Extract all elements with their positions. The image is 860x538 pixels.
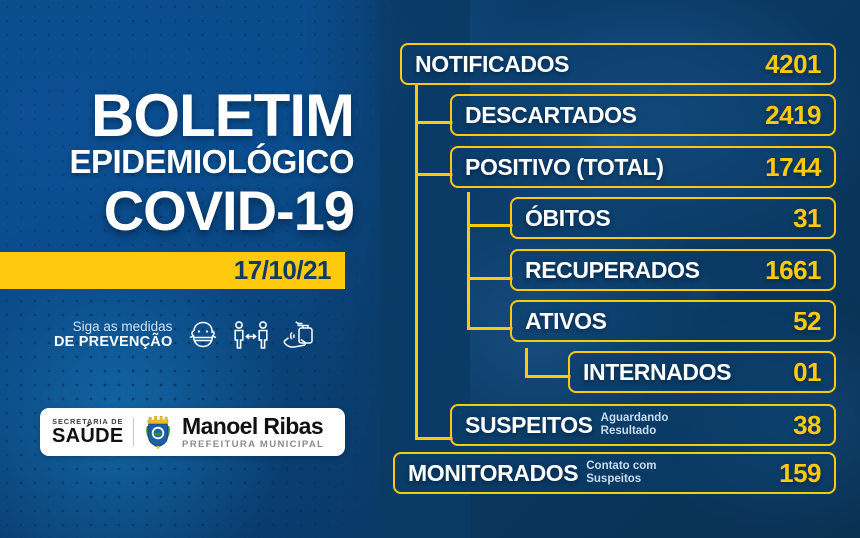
row-value: 1661 — [765, 255, 821, 286]
row-label: INTERNADOS — [583, 359, 731, 386]
row-positivo-total[interactable]: POSITIVO (TOTAL) 1744 — [450, 146, 836, 188]
statistics-tree: NOTIFICADOS 4201 DESCARTADOS 2419 POSITI… — [0, 0, 860, 538]
row-sublabel-line1: Contato com — [586, 460, 656, 472]
connector-branch-descartados — [415, 121, 453, 124]
connector-branch-ativos — [467, 327, 513, 330]
row-value: 2419 — [765, 100, 821, 131]
row-obitos[interactable]: ÓBITOS 31 — [510, 197, 836, 239]
connector-branch-suspeitos — [415, 437, 453, 440]
connector-branch-obitos — [467, 224, 513, 227]
connector-trunk-level2 — [467, 192, 470, 329]
row-label: RECUPERADOS — [525, 257, 700, 284]
connector-branch-internados — [525, 375, 571, 378]
row-sublabel: Contato com Suspeitos — [586, 460, 656, 486]
row-value: 159 — [779, 458, 821, 489]
row-recuperados[interactable]: RECUPERADOS 1661 — [510, 249, 836, 291]
connector-branch-positivo — [415, 173, 453, 176]
row-sublabel-line2: Suspeitos — [586, 473, 641, 485]
row-notificados[interactable]: NOTIFICADOS 4201 — [400, 43, 836, 85]
row-sublabel-line1: Aguardando — [601, 412, 669, 424]
row-value: 38 — [793, 410, 821, 441]
row-value: 01 — [793, 357, 821, 388]
row-suspeitos[interactable]: SUSPEITOS Aguardando Resultado 38 — [450, 404, 836, 446]
row-label: ATIVOS — [525, 308, 607, 335]
row-label: DESCARTADOS — [465, 102, 637, 129]
row-value: 1744 — [765, 152, 821, 183]
covid-bulletin-infographic: BOLETIM EPIDEMIOLÓGICO COVID-19 17/10/21… — [0, 0, 860, 538]
row-internados[interactable]: INTERNADOS 01 — [568, 351, 836, 393]
row-value: 31 — [793, 203, 821, 234]
row-value: 4201 — [765, 49, 821, 80]
row-label: SUSPEITOS — [465, 412, 593, 439]
row-label: NOTIFICADOS — [415, 51, 569, 78]
connector-trunk-level1 — [415, 85, 418, 440]
row-label: MONITORADOS — [408, 460, 578, 487]
connector-branch-recuperados — [467, 277, 513, 280]
row-label: POSITIVO (TOTAL) — [465, 154, 663, 181]
row-ativos[interactable]: ATIVOS 52 — [510, 300, 836, 342]
row-sublabel: Aguardando Resultado — [601, 412, 669, 438]
connector-trunk-level3 — [525, 348, 528, 378]
row-descartados[interactable]: DESCARTADOS 2419 — [450, 94, 836, 136]
row-monitorados[interactable]: MONITORADOS Contato com Suspeitos 159 — [393, 452, 836, 494]
row-label: ÓBITOS — [525, 205, 610, 232]
row-value: 52 — [793, 306, 821, 337]
row-sublabel-line2: Resultado — [601, 425, 657, 437]
